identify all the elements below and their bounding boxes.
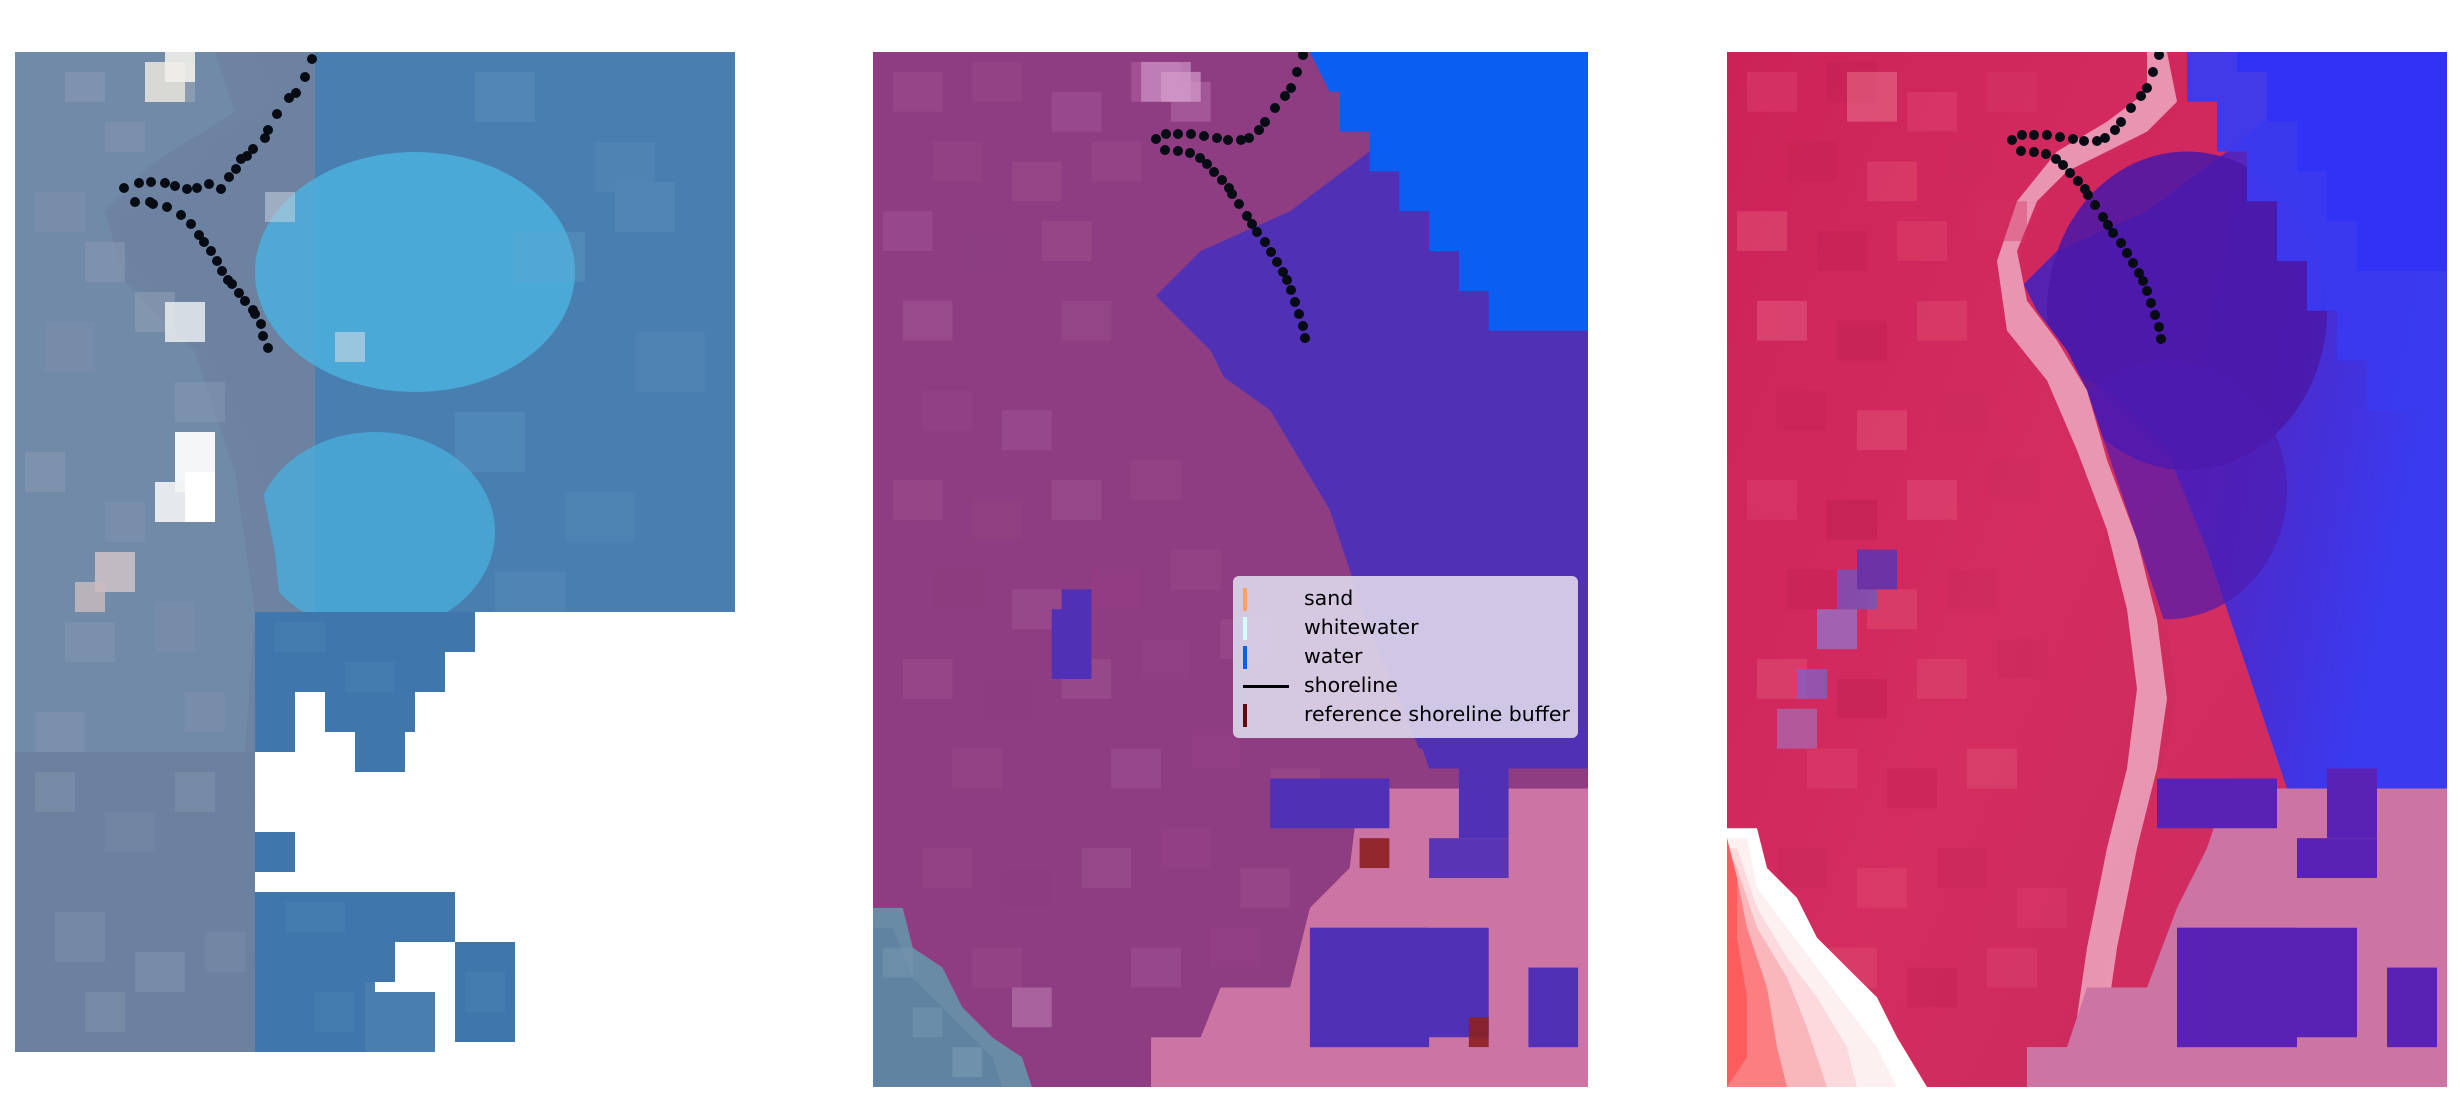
legend-item-whitewater[interactable]: whitewater	[1243, 613, 1568, 642]
legend-item-sand[interactable]: sand	[1243, 584, 1568, 613]
legend-label-whitewater: whitewater	[1304, 617, 1419, 638]
shoreline-overlay-classified	[873, 52, 1588, 1087]
panel-classified[interactable]: 2014-01-26-10-01-04	[873, 52, 1588, 1087]
legend-label-shoreline: shoreline	[1304, 675, 1398, 696]
legend-swatch-water	[1243, 648, 1289, 666]
reference-buffer-color-patch	[1243, 704, 1247, 727]
shoreline-overlay-l8	[1727, 52, 2447, 1087]
legend-label-reference-buffer: reference shoreline buffer	[1304, 704, 1570, 725]
shoreline-overlay-sar	[15, 52, 735, 1052]
sand-color-patch	[1243, 588, 1247, 611]
legend-swatch-reference-buffer	[1243, 706, 1289, 724]
panel-sar1667[interactable]: sar1667	[15, 52, 735, 1052]
legend[interactable]: sand whitewater water shoreline referenc…	[1233, 576, 1578, 738]
water-color-patch	[1243, 646, 1247, 669]
legend-label-sand: sand	[1304, 588, 1353, 609]
legend-label-water: water	[1304, 646, 1362, 667]
shoreline-line-sample	[1243, 685, 1289, 688]
figure-canvas: sar1667	[0, 0, 2460, 1096]
legend-swatch-shoreline	[1243, 677, 1289, 695]
legend-item-reference-buffer[interactable]: reference shoreline buffer	[1243, 700, 1568, 729]
legend-swatch-sand	[1243, 590, 1289, 608]
whitewater-color-patch	[1243, 617, 1247, 640]
legend-swatch-whitewater	[1243, 619, 1289, 637]
legend-item-shoreline[interactable]: shoreline	[1243, 671, 1568, 700]
panel-l8[interactable]: L8	[1727, 52, 2447, 1087]
legend-item-water[interactable]: water	[1243, 642, 1568, 671]
